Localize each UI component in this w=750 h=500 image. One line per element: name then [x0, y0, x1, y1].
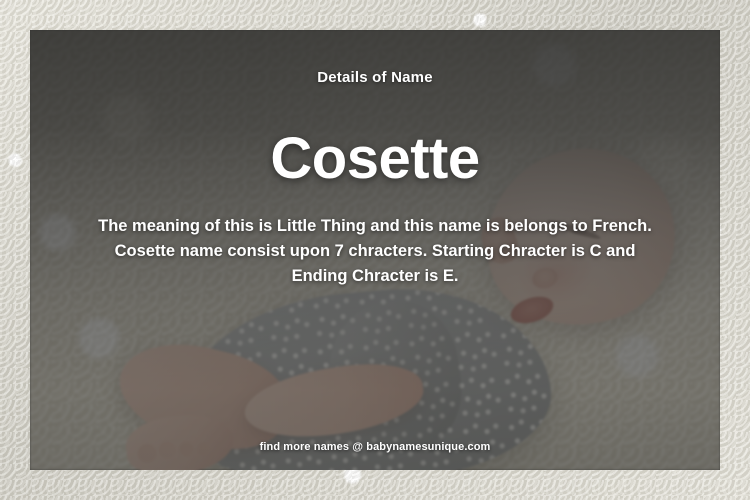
card-kicker: Details of Name: [30, 69, 720, 86]
photo-panel: Details of Name Cosette The meaning of t…: [30, 30, 720, 470]
card-content: Details of Name Cosette The meaning of t…: [30, 30, 720, 470]
name-description: The meaning of this is Little Thing and …: [92, 214, 658, 289]
name-details-card: Details of Name Cosette The meaning of t…: [0, 0, 750, 500]
baby-name-title: Cosette: [30, 130, 720, 188]
site-footer-credit: find more names @ babynamesunique.com: [30, 441, 720, 453]
